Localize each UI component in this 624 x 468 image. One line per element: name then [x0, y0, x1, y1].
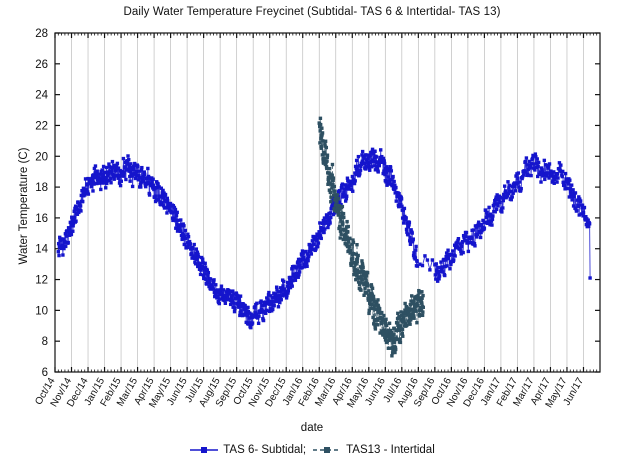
data-point [218, 302, 221, 305]
data-point [388, 322, 391, 325]
data-point [280, 298, 283, 301]
data-point [372, 164, 375, 167]
data-point [111, 160, 114, 163]
data-point [277, 305, 280, 308]
y-tick-label: 20 [35, 151, 48, 163]
data-point [446, 249, 449, 252]
data-point [371, 287, 374, 290]
data-point [402, 316, 405, 319]
data-point [395, 199, 398, 202]
data-point [239, 309, 242, 312]
y-tick-label: 10 [35, 305, 48, 317]
data-point [470, 237, 473, 240]
data-point [322, 231, 325, 234]
data-point [257, 314, 260, 317]
data-point [401, 328, 404, 331]
data-point [514, 189, 517, 192]
data-point [423, 254, 426, 257]
data-point [282, 280, 285, 283]
data-point [361, 266, 364, 269]
data-point [480, 223, 483, 226]
data-point [421, 314, 424, 317]
data-point [231, 289, 234, 292]
data-point [264, 312, 267, 315]
data-point [412, 317, 415, 320]
data-point [128, 179, 131, 182]
data-point [136, 165, 139, 168]
data-point [151, 178, 154, 181]
data-point [555, 180, 558, 183]
y-tick-label: 22 [35, 120, 48, 132]
data-point [360, 278, 363, 281]
data-point [363, 162, 366, 165]
data-point [411, 231, 414, 234]
data-point [491, 218, 494, 221]
data-point [346, 230, 349, 233]
data-point [461, 251, 464, 254]
data-point [403, 302, 406, 305]
data-point [317, 241, 320, 244]
data-point [176, 211, 179, 214]
data-point [420, 301, 423, 304]
data-point [393, 351, 396, 354]
data-point [347, 225, 350, 228]
data-point [435, 262, 438, 265]
legend-swatch-tas13 [312, 444, 342, 456]
data-point [339, 236, 342, 239]
data-point [305, 265, 308, 268]
data-point [335, 193, 338, 196]
data-point [323, 227, 326, 230]
data-point [359, 169, 362, 172]
data-point [324, 140, 327, 143]
data-point [326, 154, 329, 157]
legend-swatch-tas6 [189, 444, 219, 456]
data-point [548, 162, 551, 165]
data-point [329, 216, 332, 219]
data-point [203, 272, 206, 275]
data-point [374, 327, 377, 330]
data-point [351, 190, 354, 193]
data-point [366, 271, 369, 274]
data-point [73, 216, 76, 219]
data-point [345, 220, 348, 223]
data-point [473, 244, 476, 247]
data-point [428, 268, 431, 271]
data-point [536, 157, 539, 160]
data-point [206, 274, 209, 277]
data-point [539, 180, 542, 183]
data-point [376, 298, 379, 301]
data-point [563, 184, 566, 187]
data-point [378, 164, 381, 167]
data-point [291, 284, 294, 287]
data-point [246, 306, 249, 309]
data-point [378, 307, 381, 310]
data-point [445, 264, 448, 267]
data-point [582, 211, 585, 214]
data-point [140, 166, 143, 169]
data-point [61, 253, 64, 256]
data-point [367, 289, 370, 292]
data-point [443, 274, 446, 277]
data-point [64, 245, 67, 248]
data-point [453, 254, 456, 257]
y-tick-label: 16 [35, 213, 48, 225]
data-point [131, 185, 134, 188]
data-point [320, 237, 323, 240]
data-point [57, 250, 60, 253]
data-point [543, 178, 546, 181]
data-point [94, 164, 97, 167]
data-point [380, 311, 383, 314]
data-point [79, 204, 82, 207]
data-point [354, 179, 357, 182]
data-point [506, 180, 509, 183]
data-point [537, 161, 540, 164]
y-tick-label: 12 [35, 275, 48, 287]
data-point [390, 169, 393, 172]
data-point [267, 291, 270, 294]
data-point [201, 257, 204, 260]
data-point [571, 188, 574, 191]
data-point [294, 279, 297, 282]
data-point [195, 247, 198, 250]
y-tick-label: 26 [35, 59, 48, 71]
data-point [105, 166, 108, 169]
data-point [91, 189, 94, 192]
data-point [358, 172, 361, 175]
data-point [364, 277, 367, 280]
data-point [379, 148, 382, 151]
data-point [525, 156, 528, 159]
data-point [490, 223, 493, 226]
data-point [356, 260, 359, 263]
data-point [556, 176, 559, 179]
y-tick-label: 8 [42, 336, 48, 348]
data-point [564, 172, 567, 175]
data-point [212, 287, 215, 290]
data-point [567, 182, 570, 185]
data-point [491, 214, 494, 217]
data-point [415, 321, 418, 324]
data-point [452, 258, 455, 261]
data-point [574, 191, 577, 194]
data-point [287, 289, 290, 292]
data-point [408, 221, 411, 224]
data-point [249, 326, 252, 329]
data-point [233, 307, 236, 310]
data-point [570, 183, 573, 186]
data-point [502, 199, 505, 202]
data-point [187, 235, 190, 238]
data-point [148, 193, 151, 196]
data-point [333, 185, 336, 188]
data-point [359, 289, 362, 292]
data-point [431, 258, 434, 261]
data-point [239, 294, 242, 297]
data-point [349, 184, 352, 187]
data-point [320, 147, 323, 150]
data-point [126, 154, 129, 157]
data-point [373, 150, 376, 153]
data-point [233, 310, 236, 313]
data-point [396, 312, 399, 315]
data-point [342, 216, 345, 219]
data-point [479, 236, 482, 239]
legend-label-tas6: TAS 6- Subtidal; [223, 444, 306, 456]
data-point [410, 294, 413, 297]
data-point [189, 242, 192, 245]
data-point [399, 324, 402, 327]
data-point [331, 163, 334, 166]
data-point [390, 354, 393, 357]
data-point [418, 313, 421, 316]
plot-area: 6810121416182022242628Oct/14Nov/14Dec/14… [0, 0, 624, 420]
data-point [119, 184, 122, 187]
data-point [352, 241, 355, 244]
data-point [472, 228, 475, 231]
data-point [408, 323, 411, 326]
data-point [434, 273, 437, 276]
data-point [257, 322, 260, 325]
data-point [321, 131, 324, 134]
data-point [193, 243, 196, 246]
data-point [467, 250, 470, 253]
data-point [71, 230, 74, 233]
data-point [139, 185, 142, 188]
data-point [565, 187, 568, 190]
data-point [70, 233, 73, 236]
data-point [179, 218, 182, 221]
data-point [451, 249, 454, 252]
data-point [329, 200, 332, 203]
data-point [414, 248, 417, 251]
data-point [113, 177, 116, 180]
data-point [524, 160, 527, 163]
data-point [421, 310, 424, 313]
data-point [320, 127, 323, 130]
data-point [214, 283, 217, 286]
plot-frame [55, 33, 600, 372]
data-point [375, 155, 378, 158]
data-point [376, 323, 379, 326]
data-point [496, 204, 499, 207]
data-point [367, 312, 370, 315]
data-point [520, 187, 523, 190]
data-point [511, 195, 514, 198]
data-point [493, 202, 496, 205]
data-point [127, 158, 130, 161]
data-point [298, 270, 301, 273]
data-point [57, 254, 60, 257]
data-point [403, 207, 406, 210]
data-point [146, 167, 149, 170]
data-point [332, 176, 335, 179]
data-point [572, 195, 575, 198]
data-point [487, 206, 490, 209]
data-point [79, 209, 82, 212]
data-point [67, 241, 70, 244]
data-point [312, 243, 315, 246]
data-point [224, 302, 227, 305]
data-point [465, 231, 468, 234]
data-point [341, 205, 344, 208]
data-point [355, 243, 358, 246]
data-point [568, 179, 571, 182]
data-point [333, 189, 336, 192]
data-point [175, 214, 178, 217]
data-point [220, 285, 223, 288]
data-point [412, 237, 415, 240]
data-point [356, 254, 359, 257]
data-point [517, 171, 520, 174]
legend-item-tas6[interactable]: TAS 6- Subtidal; [189, 444, 306, 456]
data-point [164, 193, 167, 196]
data-point [588, 222, 591, 225]
data-point [415, 260, 418, 263]
data-point [391, 175, 394, 178]
data-point [368, 169, 371, 172]
data-point [351, 257, 354, 260]
data-point [559, 163, 562, 166]
data-point [366, 284, 369, 287]
data-point [377, 170, 380, 173]
data-point [448, 267, 451, 270]
data-point [561, 175, 564, 178]
data-point [255, 302, 258, 305]
data-point [457, 237, 460, 240]
data-point [483, 226, 486, 229]
data-point [68, 227, 71, 230]
series-group [57, 117, 592, 358]
data-point [319, 117, 322, 120]
data-point [421, 294, 424, 297]
y-tick-label: 28 [35, 28, 48, 40]
data-point [109, 181, 112, 184]
data-point [422, 306, 425, 309]
data-point [543, 159, 546, 162]
data-point [382, 314, 385, 317]
legend-item-tas13[interactable]: TAS13 - Intertidal [312, 444, 435, 456]
data-point [104, 186, 107, 189]
chart-container: Daily Water Temperature Freycinet (Subti… [0, 0, 624, 468]
data-point [392, 333, 395, 336]
data-point [447, 257, 450, 260]
data-point [588, 276, 591, 279]
data-point [207, 271, 210, 274]
data-point [399, 341, 402, 344]
data-point [170, 211, 173, 214]
data-point [361, 150, 364, 153]
data-point [326, 226, 329, 229]
data-point [402, 221, 405, 224]
data-point [329, 191, 332, 194]
data-point [281, 284, 284, 287]
data-point [495, 208, 498, 211]
data-point [404, 216, 407, 219]
data-point [383, 162, 386, 165]
data-point [501, 206, 504, 209]
data-point [342, 212, 345, 215]
data-point [372, 295, 375, 298]
data-point [513, 185, 516, 188]
data-point [583, 206, 586, 209]
data-point [394, 348, 397, 351]
data-point [197, 255, 200, 258]
data-point [201, 265, 204, 268]
data-point [529, 174, 532, 177]
data-point [306, 259, 309, 262]
data-point [316, 245, 319, 248]
data-point [271, 308, 274, 311]
data-point [348, 237, 351, 240]
data-point [421, 264, 424, 267]
data-point [182, 224, 185, 227]
data-point [536, 165, 539, 168]
data-point [325, 146, 328, 149]
data-point [498, 201, 501, 204]
y-tick-label: 18 [35, 182, 48, 194]
data-point [357, 155, 360, 158]
data-point [341, 222, 344, 225]
data-point [87, 192, 90, 195]
data-point [74, 219, 77, 222]
data-point [426, 258, 429, 261]
data-point [297, 273, 300, 276]
data-point [124, 178, 127, 181]
data-point [345, 195, 348, 198]
data-point [120, 180, 123, 183]
data-point [415, 310, 418, 313]
data-point [392, 180, 395, 183]
data-point [400, 197, 403, 200]
x-axis-label: date [0, 422, 624, 434]
data-point [570, 198, 573, 201]
data-point [336, 197, 339, 200]
y-tick-label: 14 [35, 244, 48, 256]
data-point [347, 187, 350, 190]
data-point [500, 210, 503, 213]
data-point [191, 247, 194, 250]
data-point [384, 318, 387, 321]
data-point [265, 309, 268, 312]
data-point [355, 159, 358, 162]
data-point [328, 167, 331, 170]
data-point [319, 123, 322, 126]
data-point [154, 194, 157, 197]
data-point [116, 162, 119, 165]
data-point [518, 180, 521, 183]
y-tick-label: 24 [35, 90, 48, 102]
chart-legend: TAS 6- Subtidal; TAS13 - Intertidal [0, 444, 624, 456]
data-point [438, 274, 441, 277]
data-point [339, 233, 342, 236]
data-point [389, 166, 392, 169]
data-point [325, 159, 328, 162]
data-point [272, 304, 275, 307]
data-point [349, 249, 352, 252]
data-point [460, 245, 463, 248]
data-point [393, 341, 396, 344]
data-point [575, 209, 578, 212]
data-point [556, 172, 559, 175]
data-point [531, 157, 534, 160]
data-point [579, 199, 582, 202]
legend-label-tas13: TAS13 - Intertidal [346, 444, 435, 456]
data-point [156, 182, 159, 185]
data-point [96, 170, 99, 173]
